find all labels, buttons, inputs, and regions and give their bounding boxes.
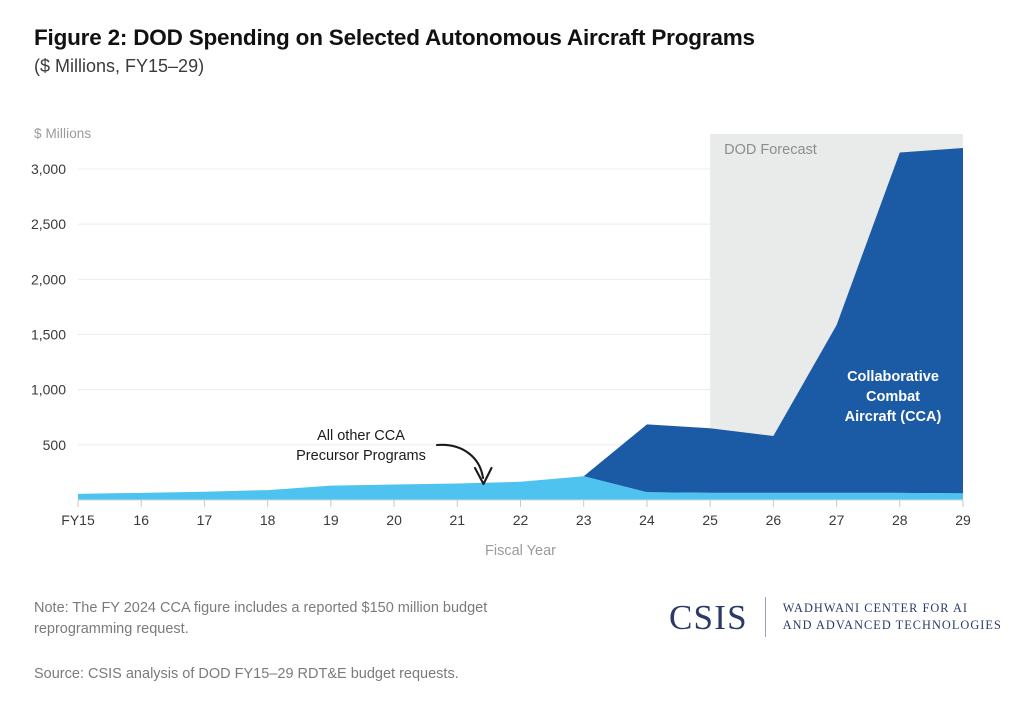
x-axis-tick-label: 23: [576, 512, 592, 528]
callout-label-line2: Precursor Programs: [296, 448, 426, 464]
x-axis-tick-label: 24: [639, 512, 655, 528]
x-axis-title: Fiscal Year: [485, 543, 556, 559]
csis-wordmark: CSIS: [669, 600, 765, 635]
y-axis-tick-label: 1,500: [31, 327, 66, 343]
chart-header: Figure 2: DOD Spending on Selected Auton…: [34, 24, 984, 78]
x-axis-tick-label: 22: [513, 512, 529, 528]
page-title: Figure 2: DOD Spending on Selected Auton…: [34, 24, 984, 51]
csis-center-line1: WADHWANI CENTER FOR AI: [783, 600, 1002, 617]
series-label-cca-line2: Combat: [866, 389, 920, 405]
x-axis-tick-label: FY15: [61, 512, 95, 528]
x-axis-tick-label: 17: [197, 512, 213, 528]
forecast-band-label: DOD Forecast: [724, 142, 817, 158]
callout-label-line1: All other CCA: [317, 428, 405, 444]
y-axis-tick-label: 3,000: [31, 161, 66, 177]
figure-root: Figure 2: DOD Spending on Selected Auton…: [0, 0, 1023, 715]
y-axis-tick-label: 1,000: [31, 382, 66, 398]
csis-logo: CSIS WADHWANI CENTER FOR AI AND ADVANCED…: [669, 597, 1002, 637]
series-label-cca-line3: Aircraft (CCA): [845, 409, 942, 425]
x-axis-tick-label: 18: [260, 512, 276, 528]
csis-center-line2: AND ADVANCED TECHNOLOGIES: [783, 617, 1002, 634]
page-subtitle: ($ Millions, FY15–29): [34, 56, 984, 78]
y-axis-tick-label: 2,500: [31, 216, 66, 232]
y-axis-tick-label: 2,000: [31, 271, 66, 287]
csis-center-name: WADHWANI CENTER FOR AI AND ADVANCED TECH…: [766, 600, 1002, 635]
plot-area: $ Millions 5001,0001,5002,0002,5003,000F…: [0, 118, 1023, 568]
area-chart: 5001,0001,5002,0002,5003,000FY1516171819…: [0, 118, 1023, 568]
x-axis-tick-label: 25: [702, 512, 718, 528]
chart-source: Source: CSIS analysis of DOD FY15–29 RDT…: [34, 664, 654, 685]
y-axis-tick-label: 500: [43, 437, 67, 453]
callout-arrow-curve: [437, 445, 483, 478]
x-axis-tick-label: 29: [955, 512, 971, 528]
chart-note: Note: The FY 2024 CCA figure includes a …: [34, 598, 579, 641]
x-axis-tick-label: 21: [449, 512, 465, 528]
x-axis-tick-label: 26: [766, 512, 782, 528]
series-label-cca-line1: Collaborative: [847, 369, 939, 385]
x-axis-tick-label: 19: [323, 512, 339, 528]
x-axis-tick-label: 27: [829, 512, 845, 528]
x-axis-tick-label: 16: [133, 512, 149, 528]
x-axis-tick-label: 28: [892, 512, 908, 528]
x-axis-tick-label: 20: [386, 512, 402, 528]
